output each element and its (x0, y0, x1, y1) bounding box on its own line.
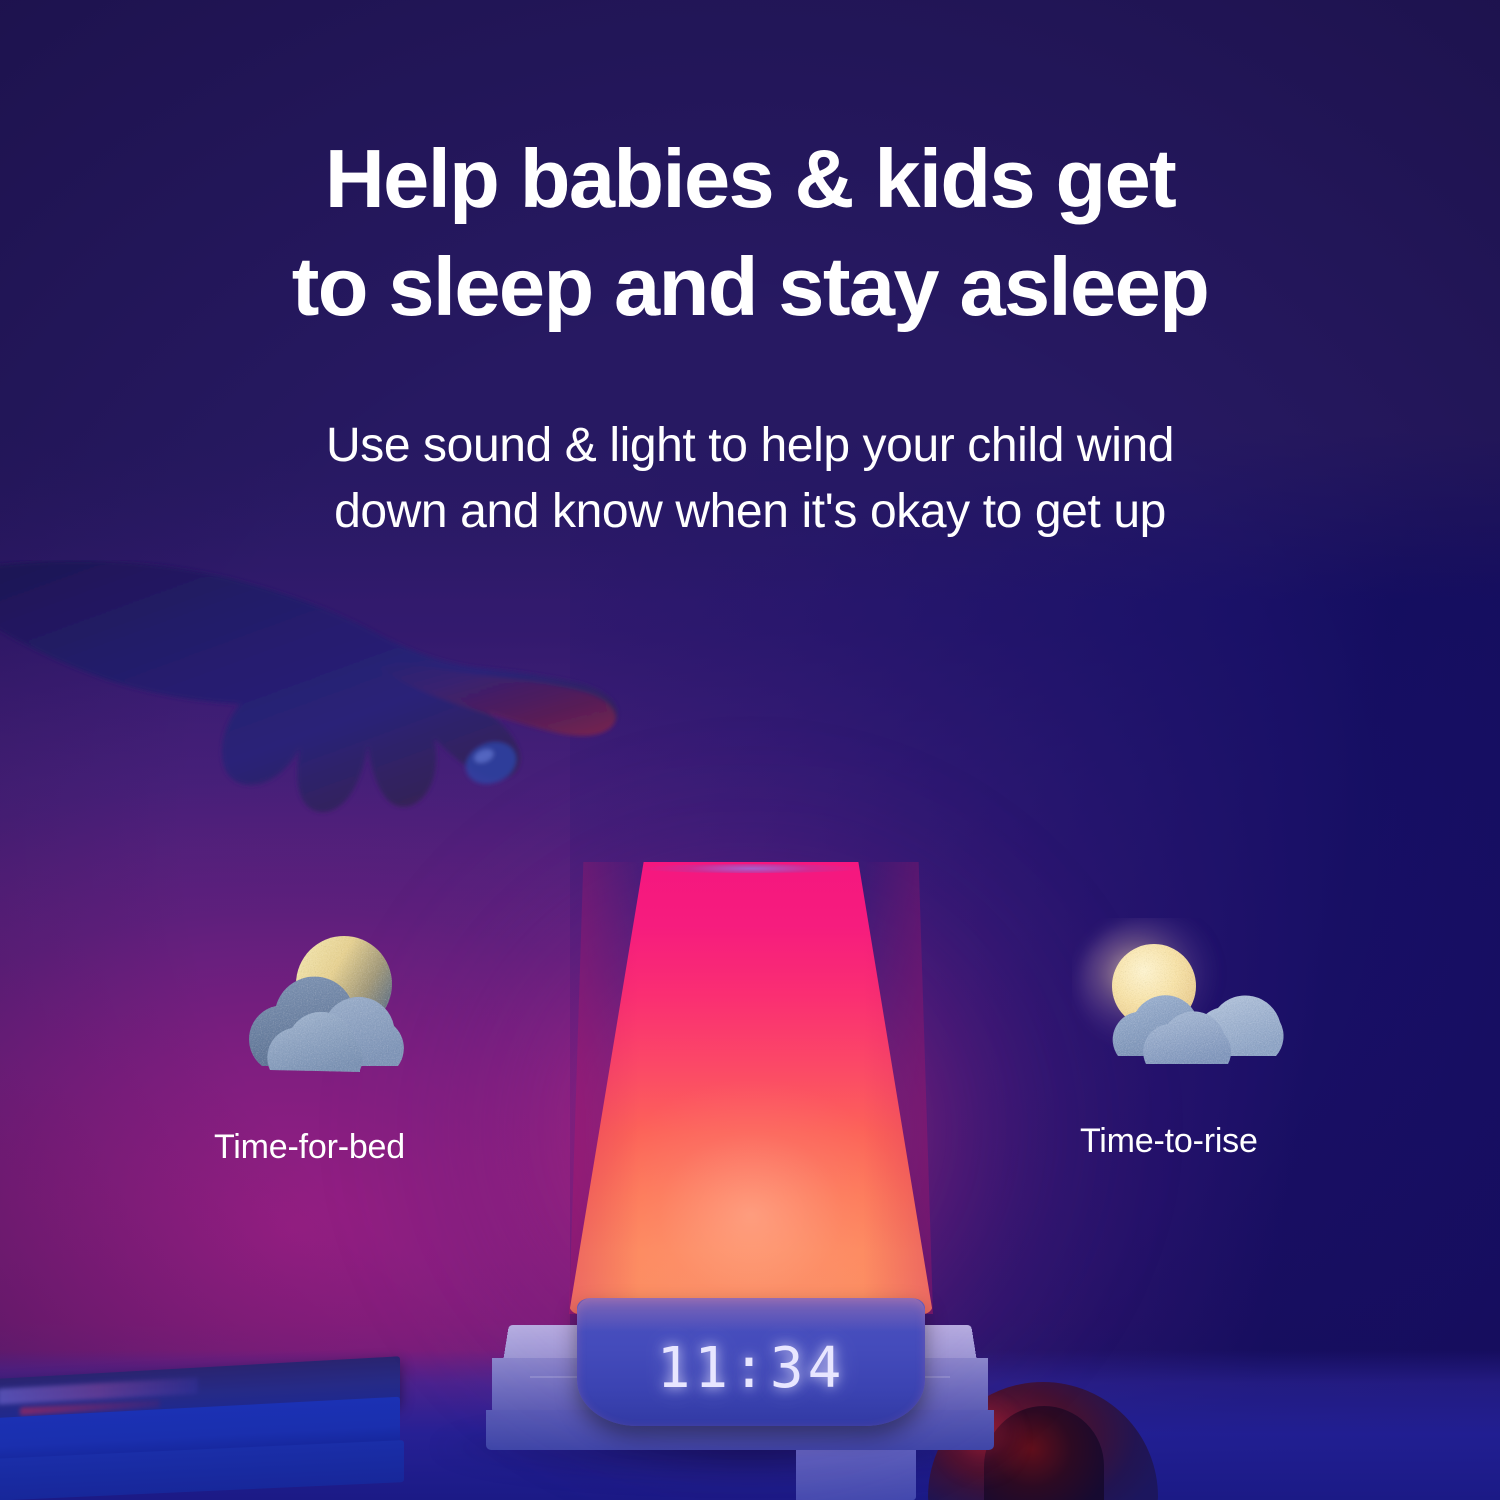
lamp-shade-edge-left (569, 862, 639, 1314)
feature-time-for-bed: Time-for-bed (212, 930, 442, 1167)
headline-line-2: to sleep and stay asleep (0, 233, 1500, 341)
feature-label: Time-for-bed (214, 1128, 442, 1167)
lamp-base[interactable]: 11:34 (577, 1298, 925, 1426)
headline-line-1: Help babies & kids get (0, 125, 1500, 233)
sun-behind-cloud-icon (1072, 918, 1312, 1088)
feature-time-to-rise: Time-to-rise (1072, 918, 1312, 1161)
lamp-base-sheen (577, 1298, 925, 1332)
subheadline-line-1: Use sound & light to help your child win… (0, 413, 1500, 479)
lamp-top-seam (639, 864, 863, 873)
book-stack (0, 1340, 420, 1500)
moon-behind-cloud-icon (212, 930, 442, 1090)
product-scene: Help babies & kids get to sleep and stay… (0, 0, 1500, 1500)
night-light-device[interactable]: 11:34 (569, 862, 933, 1422)
headline: Help babies & kids get to sleep and stay… (0, 0, 1500, 341)
subheadline-line-2: down and know when it's okay to get up (0, 479, 1500, 545)
subheadline: Use sound & light to help your child win… (0, 341, 1500, 545)
clock-display: 11:34 (577, 1336, 925, 1401)
lamp-shade-edge-right (863, 862, 933, 1314)
feature-label: Time-to-rise (1080, 1122, 1312, 1161)
book-cover-art (0, 1378, 198, 1405)
marketing-copy: Help babies & kids get to sleep and stay… (0, 0, 1500, 545)
